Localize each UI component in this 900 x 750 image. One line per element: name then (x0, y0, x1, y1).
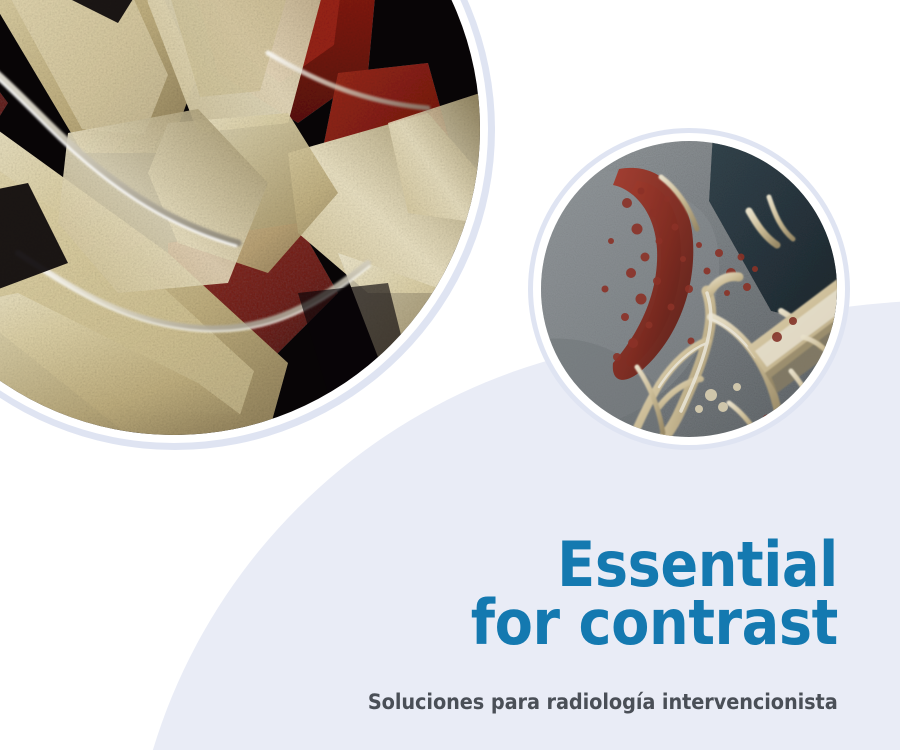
headline: Essential for contrast (430, 536, 838, 651)
cover-page: Essential for contrast Soluciones para r… (0, 0, 900, 750)
image-circle-2 (541, 141, 837, 437)
headline-line-2: for contrast (471, 594, 838, 652)
image-circle-1 (0, 0, 480, 435)
subtitle: Soluciones para radiología intervencioni… (368, 690, 838, 714)
ct-slice-image (541, 141, 837, 437)
ct-angiography-image (0, 0, 480, 435)
